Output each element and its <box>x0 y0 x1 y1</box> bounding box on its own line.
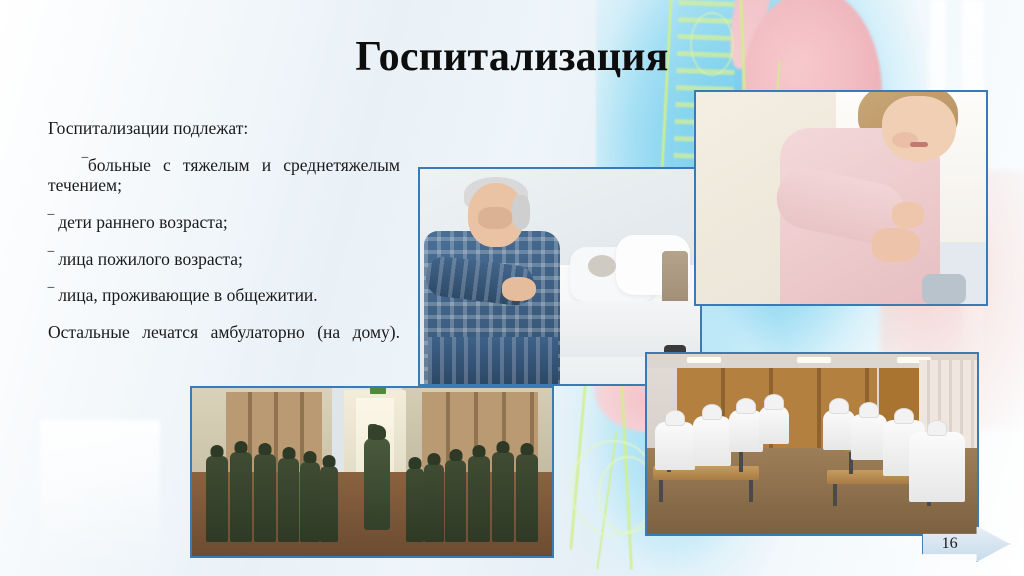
medical-student <box>729 410 763 452</box>
soldier <box>206 456 228 542</box>
child-hand <box>892 202 924 228</box>
ceiling-light <box>687 357 721 363</box>
child-hand-on-abdomen <box>872 228 920 262</box>
soldier <box>424 464 444 542</box>
medical-student <box>655 422 695 470</box>
background-light-wisp <box>40 420 160 576</box>
body-list-item-3-text: лица пожилого возраста; <box>54 249 243 269</box>
medical-student <box>759 406 789 444</box>
mouth <box>910 142 928 147</box>
soldier <box>300 462 320 542</box>
plaid-pajama-pants <box>428 337 558 384</box>
soldier <box>230 452 252 542</box>
slide-title: Госпитализация <box>0 36 1024 78</box>
medical-student <box>909 432 965 502</box>
presentation-slide: Госпитализация Госпитализации подлежат: … <box>0 0 1024 576</box>
commanding-soldier <box>364 438 390 530</box>
medical-student <box>693 416 731 466</box>
body-list-item-3: ‾ лица пожилого возраста; <box>48 249 400 270</box>
exit-sign-icon <box>370 387 386 394</box>
child-leg <box>922 274 966 304</box>
soldier <box>445 460 466 542</box>
soldier <box>278 458 299 542</box>
body-list-item-2-text: дети раннего возраста; <box>54 212 228 232</box>
body-lead-line: Госпитализации подлежат: <box>48 118 400 139</box>
medical-student <box>851 414 887 460</box>
face-shadow <box>478 207 512 229</box>
second-patient <box>588 255 616 277</box>
soldiers-barracks-photo <box>190 386 554 558</box>
ceiling-light <box>797 357 831 363</box>
soldier <box>320 466 338 542</box>
page-number: 16 <box>923 535 976 553</box>
soldier <box>406 468 424 542</box>
body-list-item-4: ‾ лица, проживающие в общежитии. <box>48 285 400 306</box>
body-list-item-1: ‾больные с тяжелым и среднетяжелым течен… <box>48 155 400 196</box>
body-list-item-2: ‾ дети раннего возраста; <box>48 212 400 233</box>
body-list-item-4-text: лица, проживающие в общежитии. <box>54 285 318 305</box>
grey-hair <box>512 195 530 229</box>
soldier <box>254 454 276 542</box>
soldier <box>516 454 538 542</box>
child-face <box>882 96 956 162</box>
body-list-item-1-text: больные с тяжелым и среднетяжелым течени… <box>48 155 400 196</box>
soldier <box>492 452 514 542</box>
anatomy-nerve-line <box>596 431 617 570</box>
body-closing-line: Остальные лечатся амбулаторно (на дому). <box>48 322 400 343</box>
medical-students-classroom-photo <box>645 352 979 536</box>
slide-body-text: Госпитализации подлежат: ‾больные с тяже… <box>48 118 400 358</box>
patient-hand-on-abdomen <box>502 277 536 301</box>
child-abdominal-pain-photo <box>694 90 988 306</box>
soldier <box>468 456 490 542</box>
